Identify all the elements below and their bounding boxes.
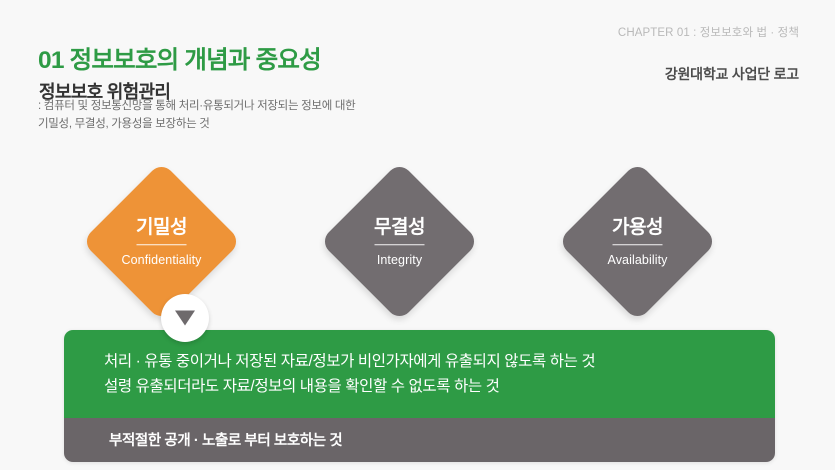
callout-box: 처리 · 유통 중이거나 저장된 자료/정보가 비인가자에게 유출되지 않도록 … [64,330,775,462]
diamond-integrity[interactable]: 무결성 Integrity [320,162,480,322]
callout-gray-section: 부적절한 공개 · 노출로 부터 보호하는 것 [64,418,775,462]
diamond-integrity-content: 무결성 Integrity [325,217,475,267]
diamond-availability-content: 가용성 Availability [563,217,713,267]
diamond-confidentiality[interactable]: 기밀성 Confidentiality [82,162,242,322]
callout-green-section: 처리 · 유통 중이거나 저장된 자료/정보가 비인가자에게 유출되지 않도록 … [64,330,775,418]
diamond-availability-subtitle: Availability [563,253,713,267]
diamond-availability-title: 가용성 [612,217,663,245]
callout-line-2: 설령 유출되더라도 자료/정보의 내용을 확인할 수 없도록 하는 것 [104,374,775,399]
diamond-confidentiality-title: 기밀성 [136,217,187,245]
triangle-down-icon [175,311,195,326]
page-description: : 컴퓨터 및 정보통신망을 통해 처리·유통되거나 저장되는 정보에 대한 기… [38,97,355,133]
diamond-availability[interactable]: 가용성 Availability [558,162,718,322]
diamond-confidentiality-subtitle: Confidentiality [87,253,237,267]
selection-arrow-marker [161,294,209,342]
diamond-confidentiality-content: 기밀성 Confidentiality [87,217,237,267]
diamond-integrity-subtitle: Integrity [325,253,475,267]
page-title: 01 정보보호의 개념과 중요성 [38,41,321,76]
callout-line-1: 처리 · 유통 중이거나 저장된 자료/정보가 비인가자에게 유출되지 않도록 … [104,349,775,374]
slide-header: CHAPTER 01 : 정보보호와 법 · 정책 강원대학교 사업단 로고 0… [0,0,835,150]
organization-logo-label: 강원대학교 사업단 로고 [665,64,799,84]
callout-footer-text: 부적절한 공개 · 노출로 부터 보호하는 것 [109,429,775,450]
chapter-label: CHAPTER 01 : 정보보호와 법 · 정책 [618,24,799,40]
diamond-integrity-title: 무결성 [374,217,425,245]
